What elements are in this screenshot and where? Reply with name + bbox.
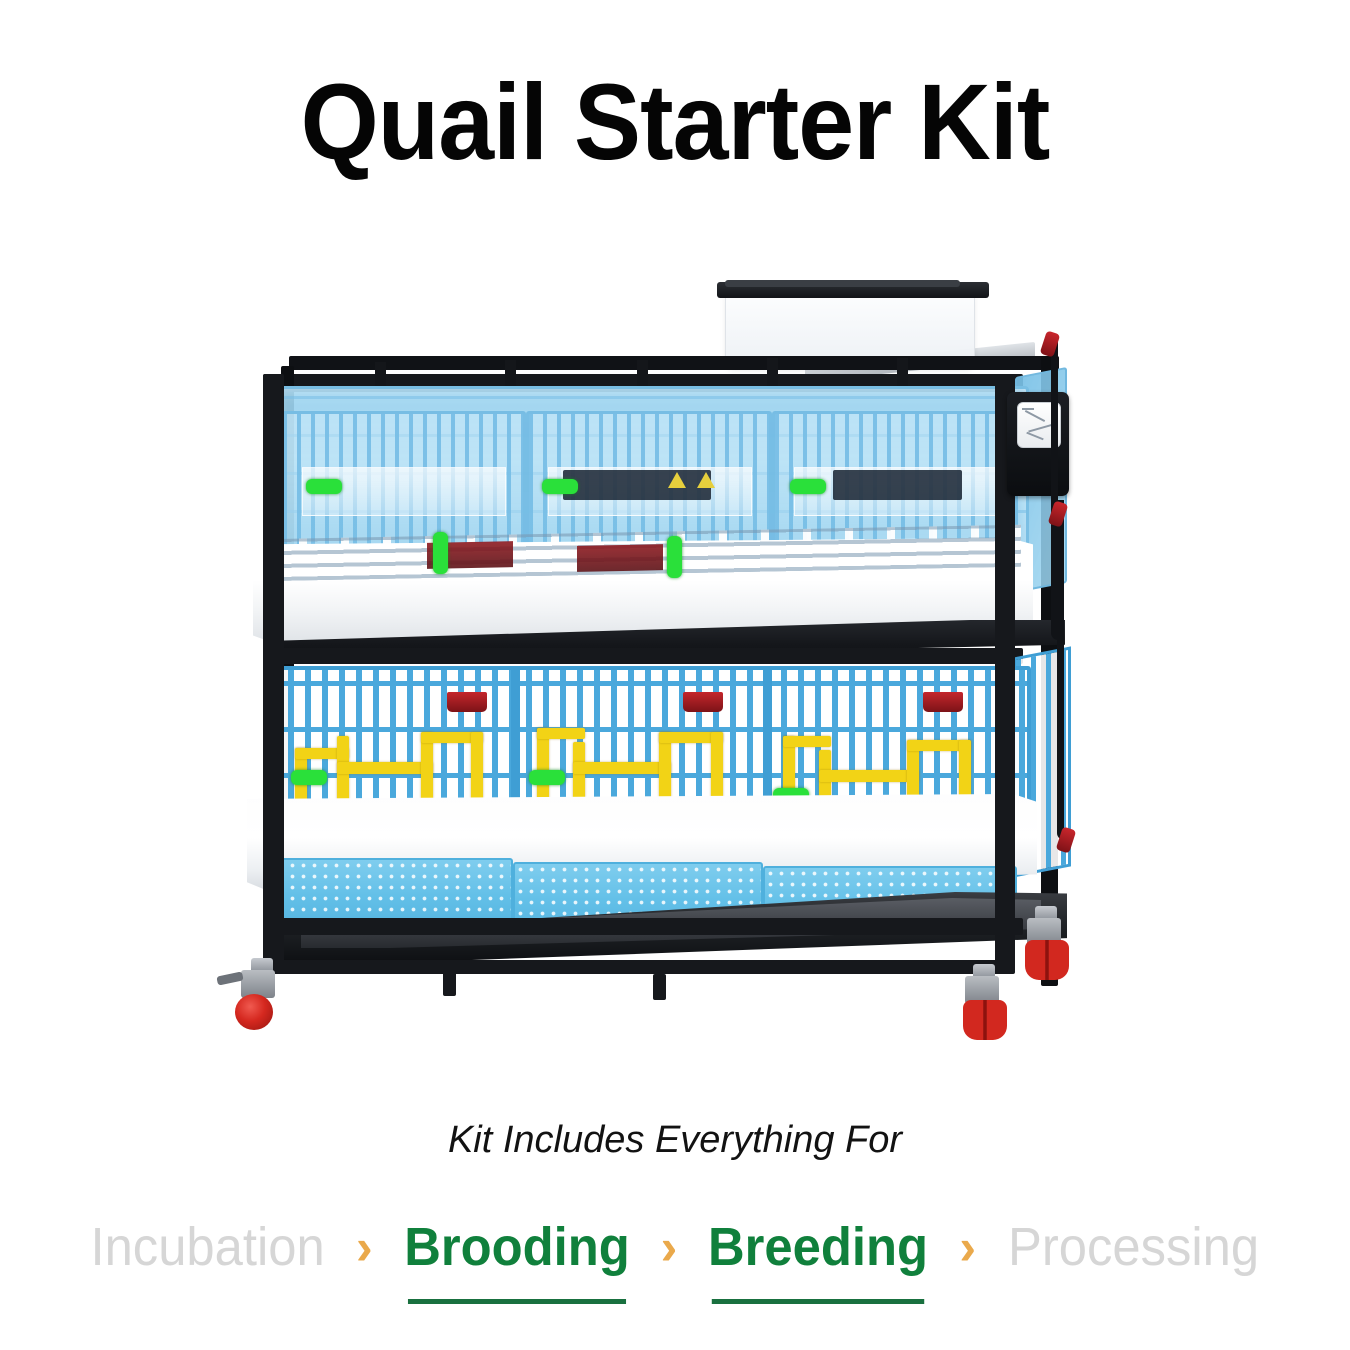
trough-latch[interactable] (433, 532, 448, 574)
frame-strut (897, 358, 908, 386)
process-step-breeding[interactable]: Breeding (706, 1214, 930, 1280)
trough-latch[interactable] (667, 536, 682, 578)
feeder-cup (923, 692, 963, 712)
frame-low-beam (263, 918, 1023, 935)
process-step-brooding[interactable]: Brooding (402, 1214, 631, 1280)
frame-mid-beam (263, 648, 1023, 664)
feeder-cup (683, 692, 723, 712)
process-step-underline (408, 1299, 626, 1304)
feeder-strip (577, 544, 663, 572)
frame-top-beam-back (289, 356, 1059, 370)
process-step-label: Breeding (708, 1217, 928, 1277)
caster-wheel (1025, 940, 1069, 980)
feeder-cup (447, 692, 487, 712)
frame-strut (637, 360, 648, 386)
yellow-divider (573, 762, 671, 774)
chevron-right-icon: › (639, 1214, 700, 1280)
breeder-latch[interactable] (529, 770, 565, 785)
poster-canvas: Quail Starter Kit (0, 0, 1350, 1350)
warning-triangle-icon (697, 472, 715, 488)
brooder-latch[interactable] (542, 479, 578, 494)
brooder-brand-label (563, 470, 712, 500)
frame-strut (767, 358, 778, 386)
brooder-latch[interactable] (790, 479, 826, 494)
frame-foot-beam (263, 960, 1003, 974)
frame-post-left-front (263, 374, 284, 966)
caster-brake[interactable] (216, 971, 243, 985)
yellow-divider (537, 728, 585, 739)
warning-triangle-icon (668, 472, 686, 488)
frame-strut (505, 360, 516, 386)
frame-strut (375, 362, 386, 386)
yellow-divider (819, 770, 919, 782)
chevron-right-icon: › (937, 1214, 998, 1280)
yellow-divider (337, 762, 433, 774)
brooder-latch[interactable] (306, 479, 342, 494)
process-step-processing[interactable]: Processing (1006, 1214, 1261, 1280)
caster-wheel (963, 1000, 1007, 1040)
breeder-latch[interactable] (291, 770, 327, 785)
process-step-label: Incubation (90, 1217, 324, 1277)
tub-lid-highlight (725, 280, 960, 287)
process-step-incubation[interactable]: Incubation (88, 1214, 326, 1280)
process-step-label: Brooding (404, 1217, 630, 1277)
frame-foot-brace (653, 974, 666, 1000)
brooder-brand-label (833, 470, 963, 500)
frame-foot-brace (443, 970, 456, 996)
process-step-label: Processing (1008, 1217, 1259, 1277)
subtitle: Kit Includes Everything For (0, 1114, 1350, 1166)
process-step-underline (712, 1299, 924, 1304)
chevron-right-icon: › (334, 1214, 395, 1280)
process-flow: Incubation › Brooding › Breeding › Proce… (0, 1214, 1350, 1280)
page-title: Quail Starter Kit (47, 62, 1303, 182)
yellow-divider (783, 736, 831, 747)
caster-wheel (235, 994, 273, 1030)
product-photo (205, 270, 1145, 1070)
hose-lower (1057, 500, 1064, 840)
